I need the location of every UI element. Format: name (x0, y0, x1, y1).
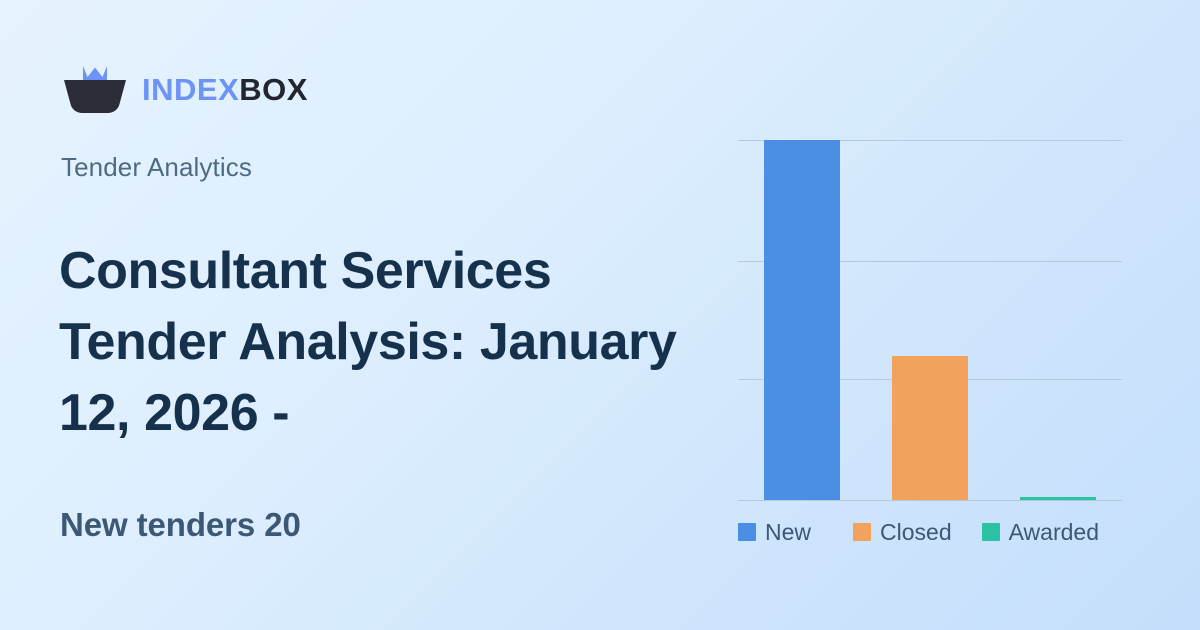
tender-status-bar-chart: NewClosedAwarded (738, 140, 1122, 560)
chart-bars (738, 140, 1122, 500)
category-eyebrow: Tender Analytics (61, 152, 252, 183)
wordmark-box: BOX (239, 72, 308, 107)
legend-label: New (765, 521, 811, 544)
legend-item-awarded[interactable]: Awarded (982, 521, 1099, 544)
chart-plot-area (738, 140, 1122, 500)
stat-summary: New tenders 20 (60, 506, 301, 544)
page-title: Consultant Services Tender Analysis: Jan… (59, 236, 709, 450)
brand-logo: INDEXBOX (62, 62, 308, 116)
chart-bar-closed[interactable] (892, 356, 968, 500)
chart-bar-new[interactable] (764, 140, 840, 500)
chart-bar-slot (1020, 140, 1096, 500)
indexbox-crown-basket-icon (62, 62, 128, 116)
legend-item-closed[interactable]: Closed (853, 521, 952, 544)
legend-item-new[interactable]: New (738, 521, 811, 544)
legend-swatch-icon (853, 523, 871, 541)
brand-wordmark: INDEXBOX (142, 74, 308, 105)
chart-bar-slot (892, 140, 968, 500)
share-card: INDEXBOX Tender Analytics Consultant Ser… (0, 0, 1200, 630)
legend-label: Awarded (1009, 521, 1099, 544)
legend-swatch-icon (738, 523, 756, 541)
legend-swatch-icon (982, 523, 1000, 541)
chart-gridline (738, 500, 1122, 501)
chart-bar-awarded[interactable] (1020, 497, 1096, 500)
wordmark-index: INDEX (142, 72, 239, 107)
chart-bar-slot (764, 140, 840, 500)
chart-legend: NewClosedAwarded (738, 512, 1122, 552)
legend-label: Closed (880, 521, 952, 544)
